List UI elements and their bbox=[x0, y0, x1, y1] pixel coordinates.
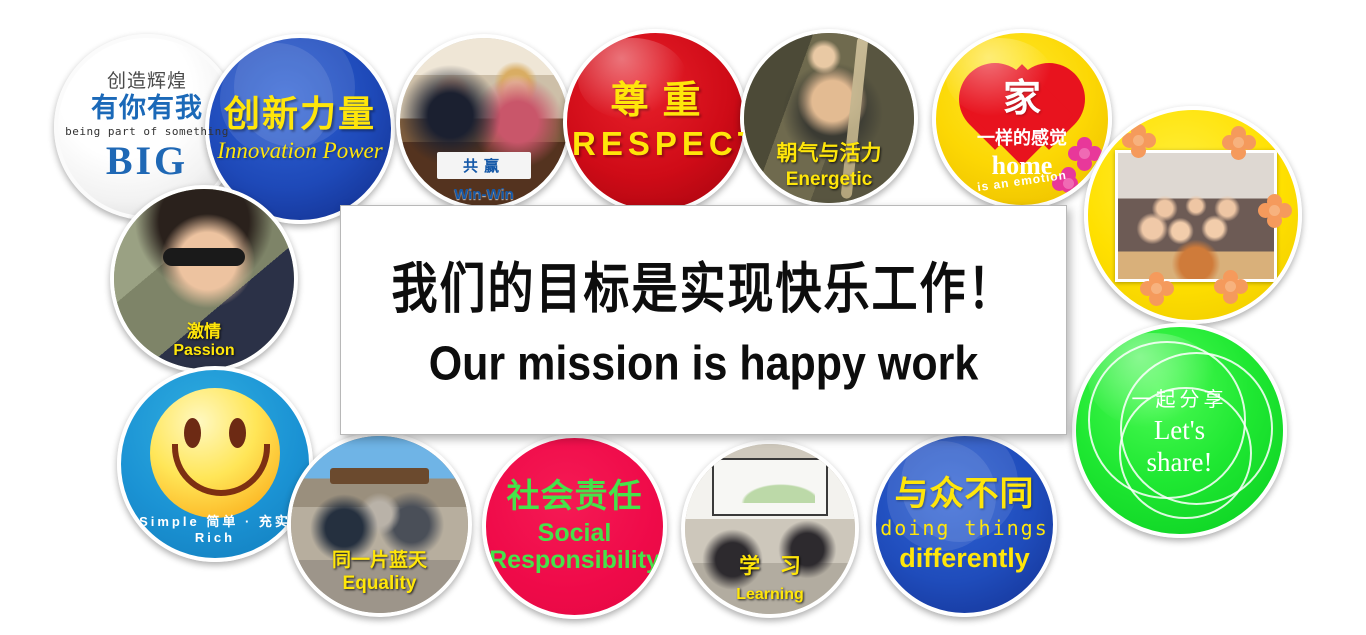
badge-share-line2: Let's bbox=[1132, 415, 1228, 446]
flower-icon bbox=[1258, 194, 1292, 228]
badge-smile-line1: Simple 简单 · 充实 Rich bbox=[121, 511, 309, 545]
win-win-placard: 共赢 bbox=[437, 152, 531, 179]
badge-learning-line2: Learning bbox=[685, 586, 855, 604]
badge-innovation-line1: 创新力量 bbox=[209, 95, 391, 133]
mission-statement-en: Our mission is happy work bbox=[429, 337, 979, 392]
badge-doing-things-differently[interactable]: 与众不同 doing things differently bbox=[872, 432, 1057, 617]
badge-differently-line3: differently bbox=[876, 544, 1053, 573]
badge-social-line1: 社会责任 bbox=[486, 479, 663, 514]
badge-passion[interactable]: 激情 Passion bbox=[110, 185, 298, 373]
badge-social-line2: Social bbox=[486, 520, 663, 547]
badge-differently-line1: 与众不同 bbox=[876, 476, 1053, 512]
badge-simple-and-rich[interactable]: Simple 简单 · 充实 Rich bbox=[117, 366, 313, 562]
badge-team-photo[interactable] bbox=[1084, 106, 1302, 324]
badge-big-line1: 创造辉煌 bbox=[58, 72, 236, 92]
badge-energetic[interactable]: 朝气与活力 Energetic bbox=[740, 29, 918, 207]
badge-share-line3: share! bbox=[1132, 447, 1228, 478]
badge-home-line1: 家 bbox=[936, 67, 1108, 122]
smiley-face-icon bbox=[150, 388, 280, 518]
handshake-photo bbox=[400, 38, 568, 206]
flower-icon bbox=[1222, 126, 1256, 160]
badge-winwin-line1: 共赢 bbox=[463, 155, 505, 176]
badge-respect-line2: RESPECT bbox=[567, 127, 744, 162]
badge-differently-line2: doing things bbox=[876, 518, 1053, 539]
badge-win-win[interactable]: 共赢 Win-Win bbox=[396, 34, 572, 210]
flower-icon bbox=[1214, 270, 1248, 304]
flower-icon bbox=[1122, 124, 1156, 158]
badge-social-responsibility[interactable]: 社会责任 Social Responsibility bbox=[482, 434, 667, 619]
team-group-photo bbox=[1115, 150, 1276, 282]
presentation-screen bbox=[712, 458, 828, 516]
mission-banner: 我们的目标是实现快乐工作！ Our mission is happy work bbox=[340, 205, 1067, 435]
badge-energetic-line2: Energetic bbox=[744, 169, 914, 191]
temple-roof bbox=[330, 468, 429, 484]
badge-share-line1: 一起分享 bbox=[1132, 383, 1228, 412]
badge-home-is-an-emotion[interactable]: 家 一样的感觉 home is an emotion bbox=[932, 29, 1112, 209]
badge-winwin-line2: Win-Win bbox=[400, 186, 568, 203]
badge-lets-share[interactable]: 一起分享 Let's share! bbox=[1072, 323, 1287, 538]
mission-statement-cn: 我们的目标是实现快乐工作！ bbox=[392, 246, 1016, 324]
culture-values-poster: 创造辉煌 有你有我 being part of something BIG 创新… bbox=[0, 0, 1366, 635]
badge-equality[interactable]: 同一片蓝天 Equality bbox=[287, 432, 472, 617]
badge-equality-line2: Equality bbox=[291, 573, 468, 595]
badge-learning-line1: 学 习 bbox=[685, 550, 855, 580]
badge-passion-line1: 激情 bbox=[114, 317, 294, 342]
badge-passion-line2: Passion bbox=[114, 342, 294, 360]
badge-innovation-line2: Innovation Power bbox=[209, 139, 391, 163]
badge-energetic-line1: 朝气与活力 bbox=[744, 137, 914, 167]
badge-social-line3: Responsibility bbox=[486, 547, 663, 574]
badge-learning[interactable]: 学 习 Learning bbox=[681, 440, 859, 618]
badge-respect[interactable]: 尊重 RESPECT bbox=[563, 29, 748, 214]
flower-icon bbox=[1140, 272, 1174, 306]
badge-respect-line1: 尊重 bbox=[567, 81, 744, 121]
sunglasses-icon bbox=[163, 248, 246, 266]
badge-equality-line1: 同一片蓝天 bbox=[291, 545, 468, 572]
